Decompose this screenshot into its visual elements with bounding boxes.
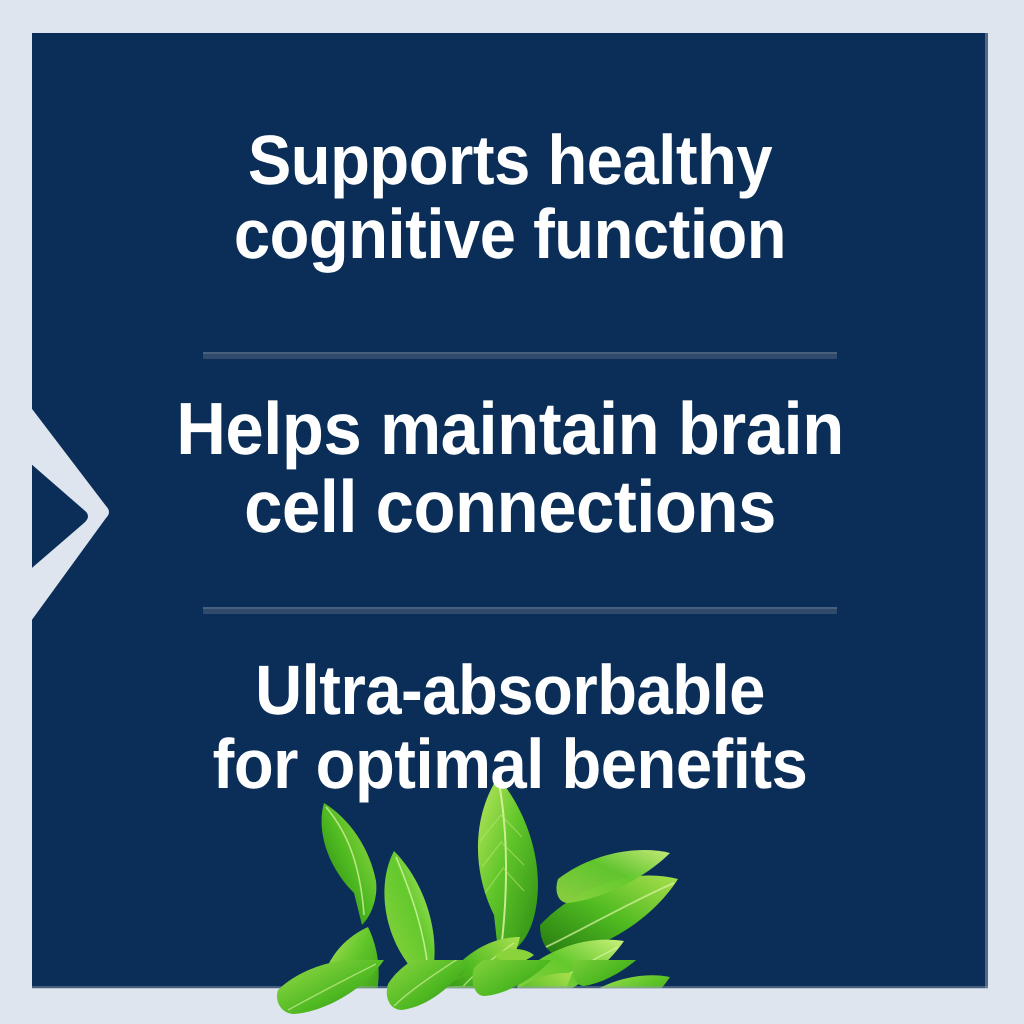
benefit-line: cognitive function — [65, 197, 954, 271]
benefit-line: Helps maintain brain — [65, 390, 954, 468]
leaf-shapes — [320, 777, 678, 988]
benefit-line: for optimal benefits — [65, 727, 954, 801]
benefit-cognitive-function: Supports healthy cognitive function — [65, 123, 954, 271]
benefit-divider-2 — [203, 607, 837, 614]
benefit-line: Supports healthy — [65, 123, 954, 197]
card-right-edge — [985, 33, 988, 988]
product-benefits-graphic: Supports healthy cognitive function Help… — [0, 0, 1024, 1024]
benefit-line: Ultra-absorbable — [65, 653, 954, 727]
benefit-line: cell connections — [65, 468, 954, 546]
green-tea-leaves-inner — [258, 775, 758, 988]
card-bottom-edge — [32, 986, 988, 989]
benefit-brain-cell-connections: Helps maintain brain cell connections — [65, 390, 954, 547]
benefit-ultra-absorbable: Ultra-absorbable for optimal benefits — [65, 653, 954, 801]
benefit-divider-1 — [203, 352, 837, 359]
benefits-card: Supports healthy cognitive function Help… — [32, 33, 988, 988]
